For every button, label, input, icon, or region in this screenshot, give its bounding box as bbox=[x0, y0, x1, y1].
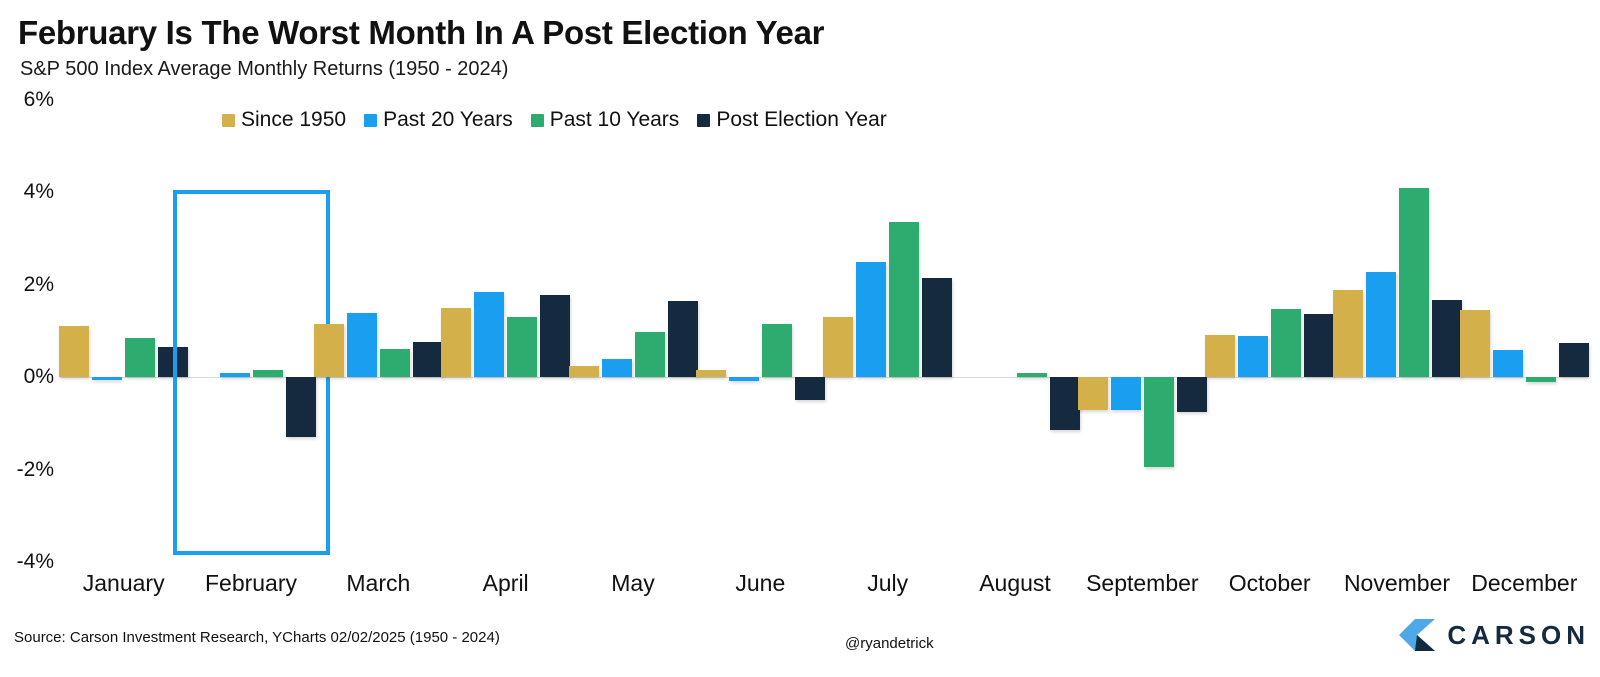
x-axis-label-april: April bbox=[483, 570, 529, 597]
bar-july-post-election-year[interactable] bbox=[922, 278, 952, 377]
page-title: February Is The Worst Month In A Post El… bbox=[18, 14, 824, 52]
x-axis-label-july: July bbox=[867, 570, 908, 597]
bar-may-since-1950[interactable] bbox=[569, 366, 599, 378]
bar-september-past-20-years[interactable] bbox=[1111, 377, 1141, 410]
bar-march-since-1950[interactable] bbox=[314, 324, 344, 377]
bar-december-post-election-year[interactable] bbox=[1559, 343, 1589, 378]
y-axis-tick-label: 0% bbox=[0, 365, 54, 389]
bar-june-since-1950[interactable] bbox=[696, 370, 726, 377]
bar-november-past-10-years[interactable] bbox=[1399, 188, 1429, 377]
bar-july-since-1950[interactable] bbox=[823, 317, 853, 377]
bar-august-past-10-years[interactable] bbox=[1017, 373, 1047, 378]
bar-december-since-1950[interactable] bbox=[1460, 310, 1490, 377]
chart-page: February Is The Worst Month In A Post El… bbox=[0, 0, 1600, 677]
bar-july-past-10-years[interactable] bbox=[889, 222, 919, 377]
x-axis-label-june: June bbox=[735, 570, 785, 597]
x-axis-label-may: May bbox=[611, 570, 654, 597]
bar-may-post-election-year[interactable] bbox=[668, 301, 698, 377]
y-axis-tick-label: -4% bbox=[0, 550, 54, 574]
author-handle: @ryandetrick bbox=[845, 635, 934, 652]
y-axis-tick-label: 4% bbox=[0, 180, 54, 204]
page-subtitle: S&P 500 Index Average Monthly Returns (1… bbox=[20, 58, 508, 81]
highlight-box-february bbox=[173, 190, 330, 555]
bar-april-past-20-years[interactable] bbox=[474, 292, 504, 377]
bar-june-past-10-years[interactable] bbox=[762, 324, 792, 377]
x-axis-label-february: February bbox=[205, 570, 297, 597]
bar-february-past-10-years[interactable] bbox=[253, 370, 283, 377]
y-axis-tick-label: -2% bbox=[0, 458, 54, 482]
bar-april-since-1950[interactable] bbox=[441, 308, 471, 377]
x-axis-label-october: October bbox=[1229, 570, 1311, 597]
bar-january-past-10-years[interactable] bbox=[125, 338, 155, 377]
x-axis-label-january: January bbox=[83, 570, 165, 597]
y-axis-tick-label: 6% bbox=[0, 88, 54, 112]
bar-october-past-20-years[interactable] bbox=[1238, 336, 1268, 378]
bar-may-past-10-years[interactable] bbox=[635, 332, 665, 377]
chart-plot-area: 6%4%2%0%-2%-4%JanuaryFebruaryMarchAprilM… bbox=[60, 100, 1588, 562]
bar-may-past-20-years[interactable] bbox=[602, 359, 632, 377]
source-note: Source: Carson Investment Research, YCha… bbox=[14, 629, 500, 646]
x-axis-label-december: December bbox=[1471, 570, 1577, 597]
bar-april-post-election-year[interactable] bbox=[540, 295, 570, 377]
bar-january-post-election-year[interactable] bbox=[158, 347, 188, 377]
bar-december-past-20-years[interactable] bbox=[1493, 350, 1523, 377]
bar-march-post-election-year[interactable] bbox=[413, 342, 443, 378]
bar-september-since-1950[interactable] bbox=[1078, 377, 1108, 409]
x-axis-label-november: November bbox=[1344, 570, 1450, 597]
bar-october-post-election-year[interactable] bbox=[1304, 314, 1334, 377]
x-axis-label-september: September bbox=[1086, 570, 1199, 597]
x-axis-label-march: March bbox=[346, 570, 410, 597]
bar-february-past-20-years[interactable] bbox=[220, 373, 250, 378]
bar-september-past-10-years[interactable] bbox=[1144, 377, 1174, 467]
bar-january-past-20-years[interactable] bbox=[92, 377, 122, 380]
bar-october-since-1950[interactable] bbox=[1205, 335, 1235, 378]
bar-october-past-10-years[interactable] bbox=[1271, 309, 1301, 377]
carson-logo-text: CARSON bbox=[1447, 620, 1590, 651]
carson-chevron-icon bbox=[1397, 618, 1437, 652]
bar-june-past-20-years[interactable] bbox=[729, 377, 759, 381]
y-axis-tick-label: 2% bbox=[0, 273, 54, 297]
bar-july-past-20-years[interactable] bbox=[856, 262, 886, 378]
bar-november-past-20-years[interactable] bbox=[1366, 272, 1396, 377]
bar-november-post-election-year[interactable] bbox=[1432, 300, 1462, 378]
bar-february-post-election-year[interactable] bbox=[286, 377, 316, 437]
bar-march-past-20-years[interactable] bbox=[347, 313, 377, 378]
bar-june-post-election-year[interactable] bbox=[795, 377, 825, 400]
bar-april-past-10-years[interactable] bbox=[507, 317, 537, 377]
bar-march-past-10-years[interactable] bbox=[380, 349, 410, 377]
bar-january-since-1950[interactable] bbox=[59, 326, 89, 377]
bar-september-post-election-year[interactable] bbox=[1177, 377, 1207, 412]
bar-november-since-1950[interactable] bbox=[1333, 290, 1363, 377]
bar-august-post-election-year[interactable] bbox=[1050, 377, 1080, 430]
carson-logo: CARSON bbox=[1397, 618, 1590, 652]
bar-december-past-10-years[interactable] bbox=[1526, 377, 1556, 382]
x-axis-label-august: August bbox=[979, 570, 1051, 597]
